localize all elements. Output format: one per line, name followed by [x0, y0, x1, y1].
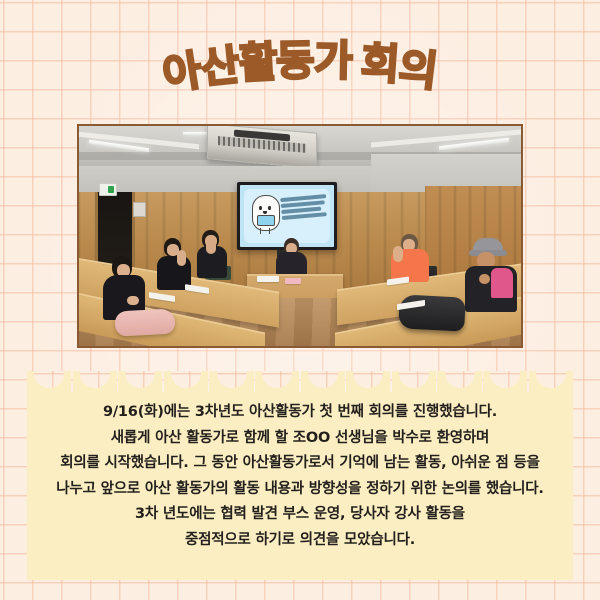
panel-notched-edge [27, 371, 573, 393]
participant-2-hands [177, 250, 186, 266]
participant-1-hand [127, 296, 139, 305]
title-char-1: 산 [199, 44, 241, 90]
mascot-mouth [263, 211, 267, 214]
body-line-2: 새롭게 아산 활동가로 함께 할 조OO 선생님을 박수로 환영하며 [0, 426, 600, 452]
pink-bag [114, 308, 175, 336]
panel-notch [118, 371, 162, 393]
participant-4 [391, 234, 429, 282]
title-char-2: 활 [237, 41, 277, 85]
participant-2 [157, 238, 191, 290]
panel-notch [437, 371, 481, 393]
panel-notch [27, 371, 71, 393]
panel-notch [392, 371, 436, 393]
participant-3-hands [206, 240, 216, 254]
exit-sign-icon [99, 183, 117, 196]
participant-5-hand [479, 274, 490, 284]
body-line-3: 회의를 시작했습니다. 그 동안 아산활동가로서 기억에 남는 활동, 아쉬운 … [0, 451, 600, 477]
egg-character-mascot-icon [252, 195, 278, 235]
black-bag [398, 294, 466, 331]
panel-notch [346, 371, 390, 393]
mascot-leg-right [269, 228, 270, 234]
title-char-6: 의 [397, 47, 439, 93]
body-line-5: 3차 년도에는 협력 발견 부스 운영, 당사자 강사 활동을 [0, 502, 600, 528]
panel-notch [301, 371, 345, 393]
panel-notch [255, 371, 299, 393]
title-arc-text: 아 산 활 동 가 회 의 [163, 43, 436, 85]
body-text: 9/16(화)에는 3차년도 아산활동가 첫 번째 회의를 진행했습니다. 새롭… [0, 400, 600, 553]
body-line-6: 중점적으로 하기로 의견을 모았습니다. [0, 528, 600, 554]
body-line-1: 9/16(화)에는 3차년도 아산활동가 첫 번째 회의를 진행했습니다. [0, 400, 600, 426]
front-desk-paper [257, 276, 279, 282]
body-line-4: 나누고 앞으로 아산 활동가의 활동 내용과 방향성을 정하기 위한 논의를 했… [0, 477, 600, 503]
front-desk-pink-paper [285, 278, 301, 284]
title-char-5: 회 [360, 42, 400, 87]
promo-card: 아 산 활 동 가 회 의 [0, 0, 600, 600]
panel-notch [209, 371, 253, 393]
title-char-3: 동 [276, 40, 314, 83]
title-char-0: 아 [160, 49, 204, 96]
presenter-person [275, 238, 309, 278]
panel-notch [73, 371, 117, 393]
wall-control-box [133, 202, 146, 217]
slide-text-lines [280, 194, 330, 220]
panel-notch [483, 371, 527, 393]
mascot-leg-left [260, 228, 261, 234]
participant-4-hand [393, 246, 403, 262]
title-char-4: 가 [313, 40, 351, 83]
mascot-eye-left [259, 206, 262, 210]
photo-scene: 앞으로의 활동 내용, 방향성을 정하기 위한 아이디어 나눔 [79, 126, 521, 346]
mascot-eye-right [268, 206, 271, 210]
page-title: 아 산 활 동 가 회 의 [0, 26, 600, 102]
panel-notch [164, 371, 208, 393]
panel-notch [529, 371, 573, 393]
participant-5 [465, 238, 517, 312]
meeting-photo: 앞으로의 활동 내용, 방향성을 정하기 위한 아이디어 나눔 [77, 124, 523, 348]
mascot-holding-box [257, 215, 275, 226]
participant-5-shirt [491, 268, 513, 298]
participant-3 [197, 230, 227, 278]
